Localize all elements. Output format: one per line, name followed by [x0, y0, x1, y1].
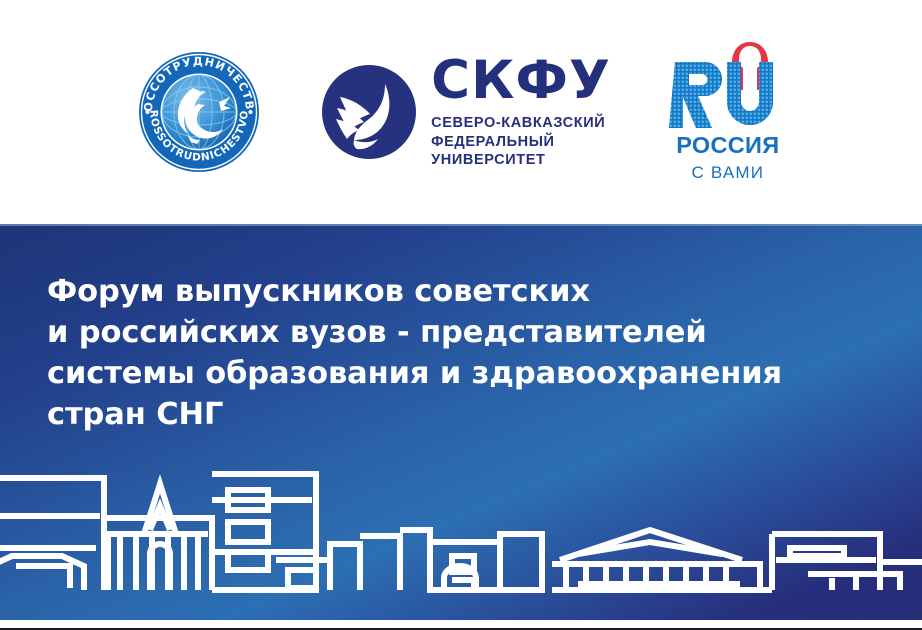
ru-russia-logo: РОССИЯ С ВАМИ	[669, 36, 787, 188]
ru-label-rossiya: РОССИЯ	[669, 134, 787, 158]
skfu-subtitle-line-3: УНИВЕРСИТЕТ	[431, 151, 611, 170]
skfu-subtitle-line-1: СЕВЕРО-КАВКАЗСКИЙ	[431, 114, 611, 133]
skfu-text-block: СКФУ СЕВЕРО-КАВКАЗСКИЙ ФЕДЕРАЛЬНЫЙ УНИВЕ…	[431, 54, 611, 170]
title-line-3: системы образования и здравоохранения	[47, 353, 887, 394]
banner-top-divider	[0, 224, 922, 226]
skfu-logo: СКФУ СЕВЕРО-КАВКАЗСКИЙ ФЕДЕРАЛЬНЫЙ УНИВЕ…	[321, 54, 611, 170]
banner-title: Форум выпускников советских и российских…	[47, 271, 887, 435]
city-skyline-outline	[0, 438, 922, 620]
bird-circle-icon	[321, 64, 417, 160]
rossotrudnichestvo-logo: РОССОТРУДНИЧЕСТВО ROSSOTRUDNICHESTVO	[135, 48, 263, 176]
skfu-subtitle: СЕВЕРО-КАВКАЗСКИЙ ФЕДЕРАЛЬНЫЙ УНИВЕРСИТЕ…	[431, 114, 611, 170]
title-line-4: стран СНГ	[47, 394, 887, 435]
globe-dove-icon: РОССОТРУДНИЧЕСТВО ROSSOTRUDNICHESTVO	[135, 48, 263, 176]
poster-banner: РОССОТРУДНИЧЕСТВО ROSSOTRUDNICHESTVO	[0, 0, 922, 630]
skfu-abbreviation: СКФУ	[431, 54, 611, 107]
skfu-subtitle-line-2: ФЕДЕРАЛЬНЫЙ	[431, 133, 611, 152]
ru-label-svami: С ВАМИ	[669, 164, 787, 181]
title-line-1: Форум выпускников советских	[47, 271, 887, 312]
ru-letter-r	[669, 56, 722, 136]
title-line-2: и российских вузов - представителей	[47, 312, 887, 353]
blue-banner: Форум выпускников советских и российских…	[0, 224, 922, 620]
logo-header: РОССОТРУДНИЧЕСТВО ROSSOTRUDNICHESTVO	[0, 0, 922, 224]
matryoshka-icon	[669, 36, 787, 136]
